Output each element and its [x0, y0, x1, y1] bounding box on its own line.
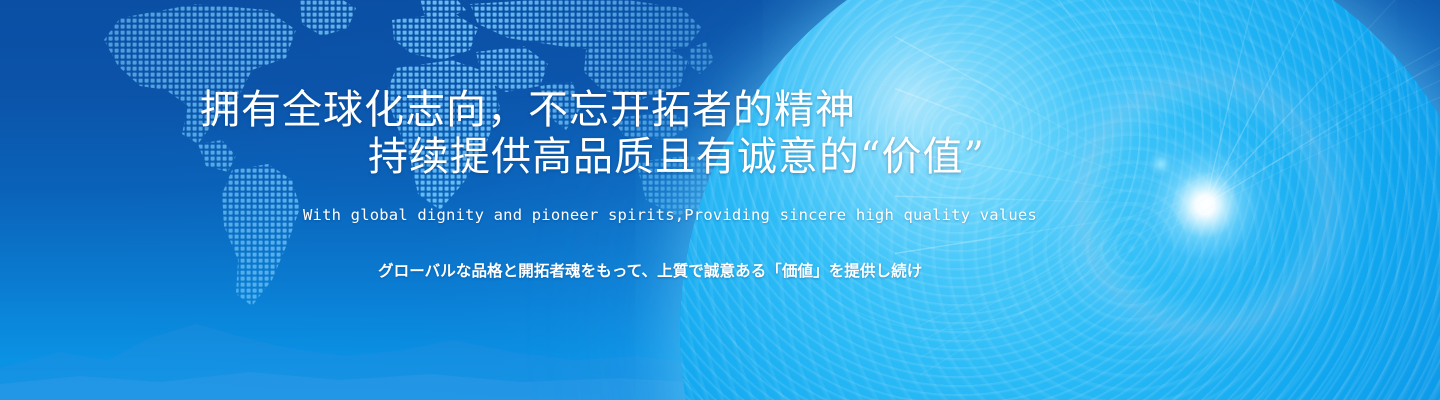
lens-flare-orb	[1148, 151, 1174, 177]
sun-flare-core	[1130, 130, 1280, 280]
globe-outer-glow	[664, 0, 1440, 400]
dot-matrix-world-map	[0, 0, 760, 324]
background-gradient-wash	[0, 0, 1440, 400]
globe-arc-bands	[680, 0, 1440, 400]
globe-cloud-texture	[680, 0, 1440, 400]
glowing-earth-globe	[680, 0, 1440, 400]
subtitle-english: With global dignity and pioneer spirits,…	[303, 206, 1037, 224]
headline-line-1: 拥有全球化志向，不忘开拓者的精神	[200, 90, 856, 130]
headline-line-2: 持续提供高品质且有诚意的“价值”	[368, 137, 985, 177]
globe-atmosphere-rim	[677, 0, 1440, 400]
flare-halo-ring	[1040, 40, 1370, 370]
globe-body	[680, 0, 1440, 400]
radial-light-rays	[895, 0, 1440, 400]
diagonal-light-streaks	[920, 0, 1440, 400]
banner-copy-block: 拥有全球化志向，不忘开拓者的精神 持续提供高品质且有诚意的“价值” With g…	[0, 0, 1100, 400]
subtitle-japanese: グローバルな品格と開拓者魂をもって、上質で誠意ある「価値」を提供し続け	[378, 259, 922, 281]
distant-mountain-silhouette	[0, 290, 1200, 400]
corporate-philosophy-banner: 拥有全球化志向，不忘开拓者的精神 持续提供高品质且有诚意的“价值” With g…	[0, 0, 1440, 400]
